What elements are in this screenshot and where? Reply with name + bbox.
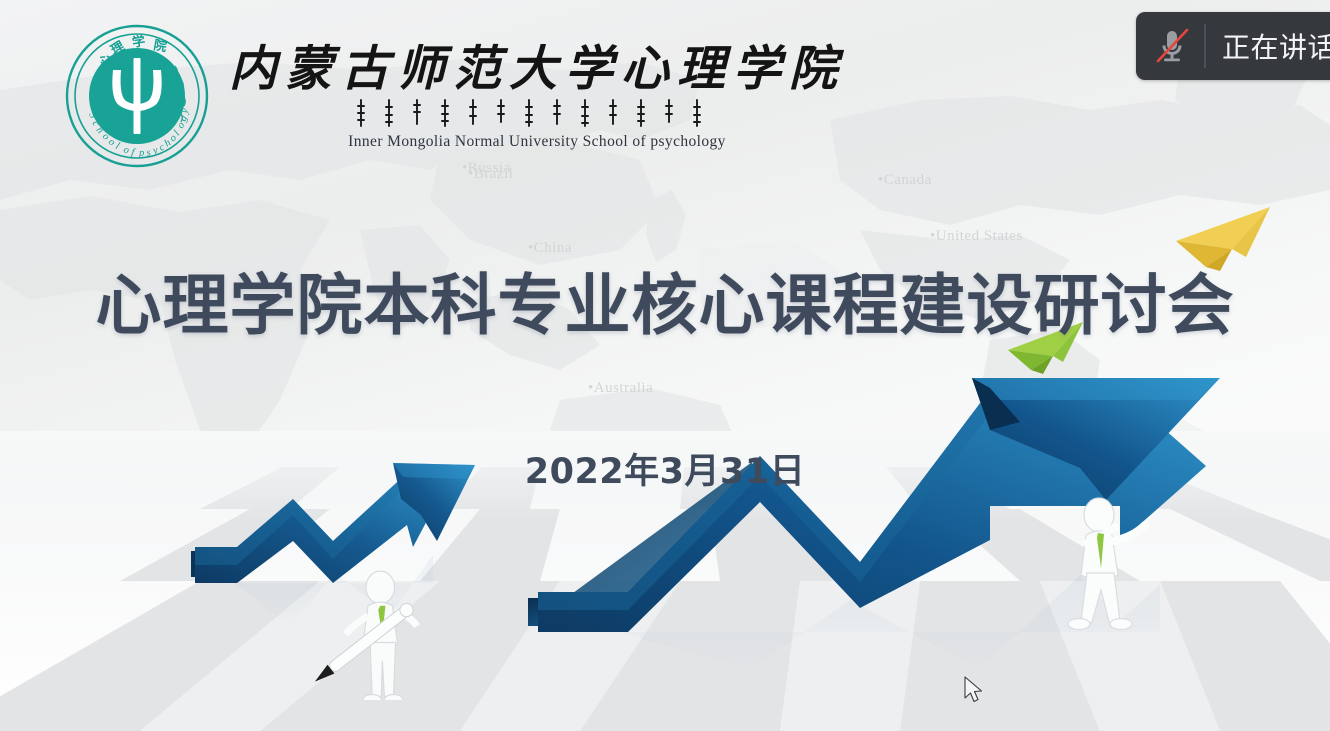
microphone-muted-icon [1150,24,1194,68]
svg-text:院: 院 [152,37,167,54]
logo-brand-en: Inner Mongolia Normal University School … [348,133,726,151]
speaking-status-badge[interactable]: 正在讲话: [1136,12,1330,80]
3d-figure-pushing-icon [1045,495,1155,640]
map-label: •Canada [878,172,932,189]
map-label: •Australia [588,380,653,397]
slide-date: 2022年3月31日 [0,443,1330,494]
psychology-emblem-icon: 心 理 学 院 S c h o o l o f p s [63,22,211,170]
svg-text:学: 学 [131,33,146,50]
svg-text:p: p [138,148,144,159]
presentation-slide: •Russia•United States•China•Australia•Ca… [0,0,1330,731]
svg-text:o: o [122,144,130,156]
mouse-pointer-icon [963,676,985,706]
logo-brand-mongolian [351,98,723,132]
university-logo: 心 理 学 院 S c h o o l o f p s [63,22,845,170]
badge-divider [1204,24,1206,68]
svg-text:l: l [114,141,122,152]
logo-brand-cn: 内蒙古师范大学心理学院 [229,45,845,96]
page-title: 心理学院本科专业核心课程建设研讨会 [0,252,1330,348]
svg-text:f: f [131,147,138,159]
map-label: •United States [930,228,1023,245]
svg-text:s: s [146,147,152,159]
speaking-label: 正在讲话: [1222,26,1330,66]
big-growth-arrow-icon [520,370,1220,680]
